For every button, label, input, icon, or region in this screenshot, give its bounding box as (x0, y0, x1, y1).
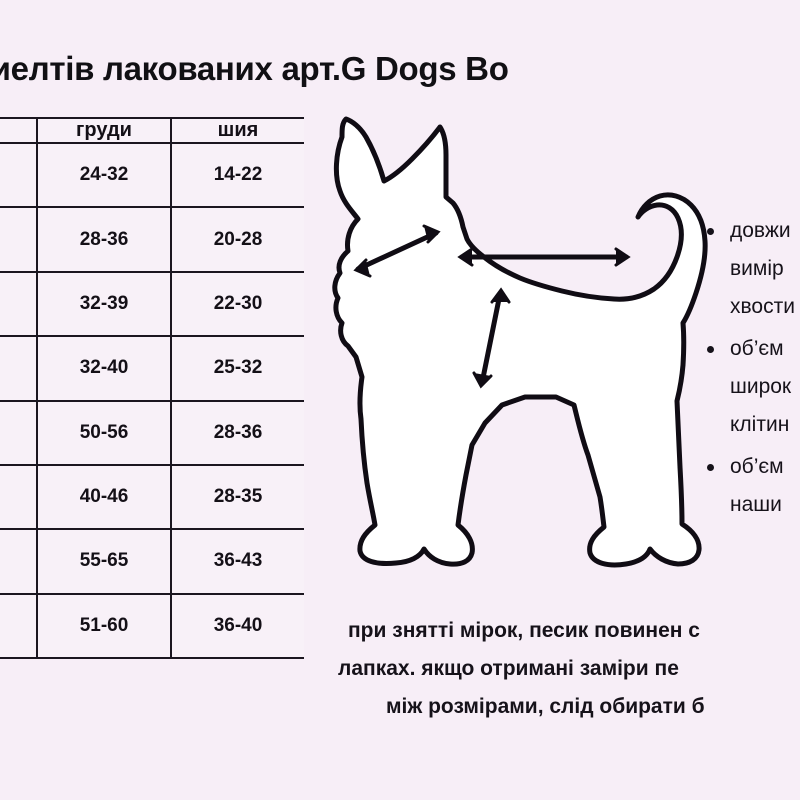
column-header-chest: груди (37, 118, 171, 143)
measurement-instructions-list: довжи вимір хвости об’єм широк клітин об… (704, 212, 800, 528)
table-header-row: а груди шия (0, 118, 304, 143)
note-line: між розмірами, слід обирати б (330, 688, 800, 726)
bullet-dot-icon (707, 228, 714, 235)
column-header-neck: шия (171, 118, 304, 143)
list-item: довжи вимір хвости (704, 212, 800, 326)
size-chart-page: іри жиелтів лакованих арт.G Dogs Bo а гр… (0, 0, 800, 800)
size-table: а груди шия 24-32 14-22 28-36 20-28 (0, 117, 304, 659)
bullet-line: об’єм (730, 330, 800, 368)
cell-size (0, 465, 37, 529)
table-row: 32-39 22-30 (0, 272, 304, 336)
cell-neck: 28-36 (171, 401, 304, 465)
table-row: 32-40 25-32 (0, 336, 304, 400)
cell-chest: 51-60 (37, 594, 171, 658)
cell-chest: 24-32 (37, 143, 171, 207)
bullet-line: наши (730, 486, 800, 524)
bullet-dot-icon (707, 464, 714, 471)
cell-neck: 36-40 (171, 594, 304, 658)
table-row: 28-36 20-28 (0, 207, 304, 271)
cell-size (0, 272, 37, 336)
measuring-note: при знятті мірок, песик повинен с лапках… (330, 612, 800, 726)
cell-size (0, 143, 37, 207)
table-row: 55-65 36-43 (0, 529, 304, 593)
table-row: 50-56 28-36 (0, 401, 304, 465)
cell-size (0, 594, 37, 658)
list-item: об’єм широк клітин (704, 330, 800, 444)
cell-chest: 32-40 (37, 336, 171, 400)
size-table-container: а груди шия 24-32 14-22 28-36 20-28 (0, 117, 304, 659)
table-row: 24-32 14-22 (0, 143, 304, 207)
table-row: 40-46 28-35 (0, 465, 304, 529)
note-line: лапках. якщо отримані заміри пе (330, 650, 800, 688)
dog-illustration (320, 105, 720, 610)
cell-chest: 32-39 (37, 272, 171, 336)
table-row: 51-60 36-40 (0, 594, 304, 658)
cell-neck: 20-28 (171, 207, 304, 271)
note-line: при знятті мірок, песик повинен с (330, 612, 800, 650)
cell-size (0, 207, 37, 271)
cell-neck: 14-22 (171, 143, 304, 207)
cell-size (0, 529, 37, 593)
cell-chest: 40-46 (37, 465, 171, 529)
cell-neck: 36-43 (171, 529, 304, 593)
cell-size (0, 336, 37, 400)
cell-chest: 55-65 (37, 529, 171, 593)
cell-chest: 28-36 (37, 207, 171, 271)
cell-size (0, 401, 37, 465)
dog-outline-shape (335, 119, 705, 565)
list-item: об’єм наши (704, 448, 800, 524)
bullet-line: хвости (730, 288, 800, 326)
bullet-line: довжи (730, 212, 800, 250)
cell-neck: 22-30 (171, 272, 304, 336)
column-header-size: а (0, 118, 37, 143)
page-title: іри жиелтів лакованих арт.G Dogs Bo (0, 50, 800, 88)
bullet-line: вимір (730, 250, 800, 288)
cell-chest: 50-56 (37, 401, 171, 465)
bullet-line: широк (730, 368, 800, 406)
table-body: 24-32 14-22 28-36 20-28 32-39 22-30 32-4… (0, 143, 304, 658)
bullet-line: клітин (730, 406, 800, 444)
bullet-dot-icon (707, 346, 714, 353)
cell-neck: 28-35 (171, 465, 304, 529)
bullet-line: об’єм (730, 448, 800, 486)
cell-neck: 25-32 (171, 336, 304, 400)
